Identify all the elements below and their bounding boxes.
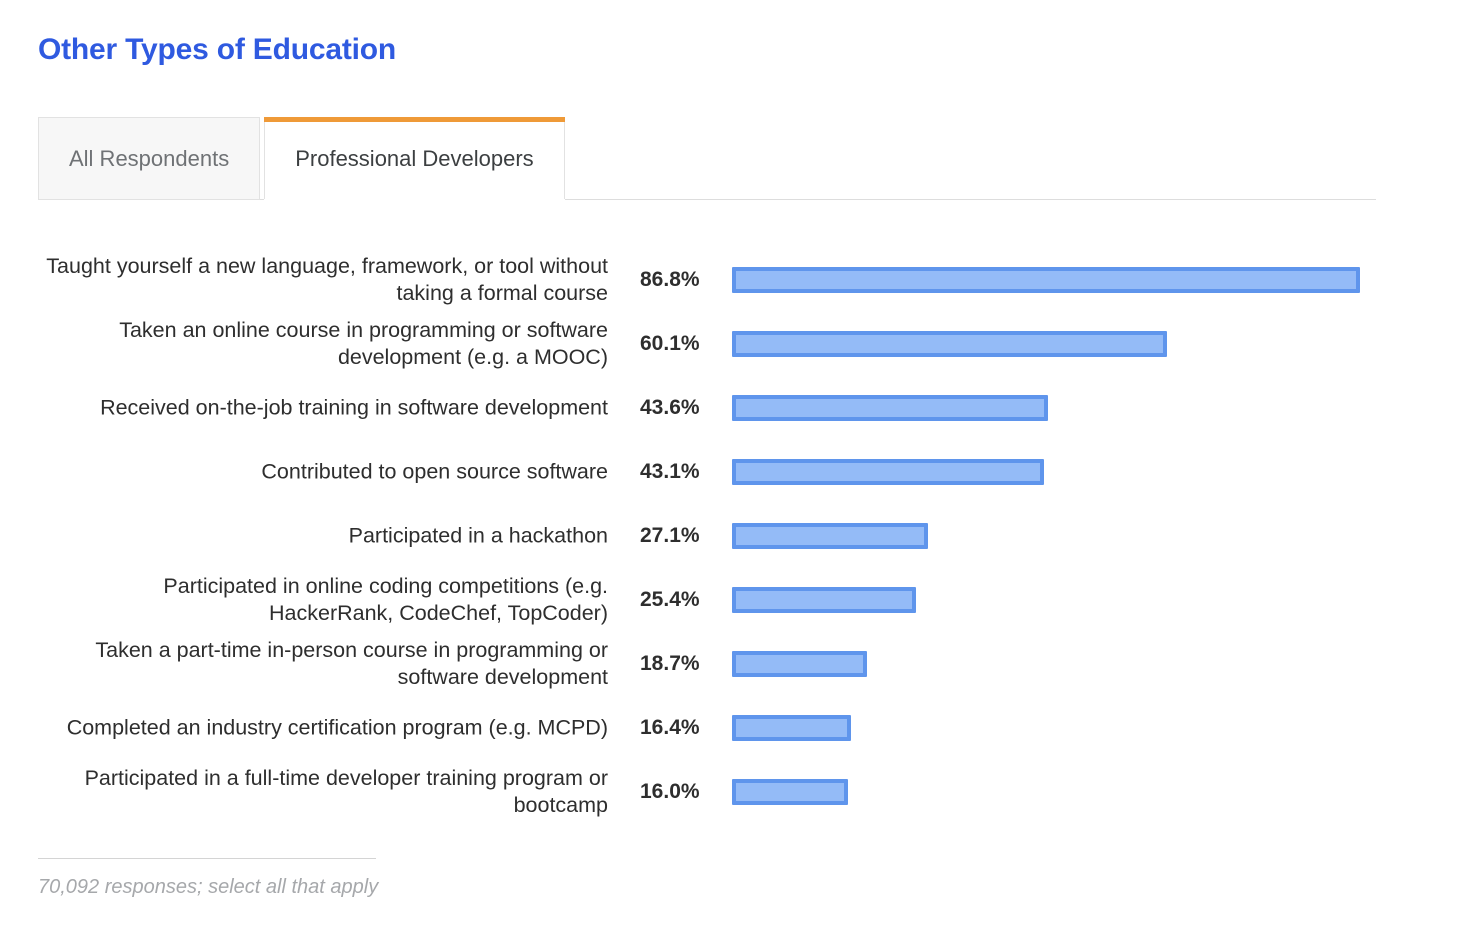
bar-category-label: Participated in a full-time developer tr… [38,765,608,819]
bar-value-label: 25.4% [640,588,716,612]
tab-professional-developers-label: Professional Developers [295,146,533,172]
tab-professional-developers[interactable]: Professional Developers [264,117,564,200]
chart-row: Participated in online coding competitio… [0,568,1484,632]
chart-row: Taken an online course in programming or… [0,312,1484,376]
bar[interactable] [732,523,928,549]
chart-page: Other Types of Education All Respondents… [0,0,1484,950]
footer-divider [38,858,376,859]
chart-footer: 70,092 responses; select all that apply [38,858,738,899]
horizontal-bar-chart: Taught yourself a new language, framewor… [0,248,1484,824]
bar-track [732,267,1484,293]
bar-value-label: 43.1% [640,460,716,484]
bar-category-label: Taken a part-time in-person course in pr… [38,637,608,691]
bar[interactable] [732,779,848,805]
bar-value-label: 43.6% [640,396,716,420]
chart-row: Participated in a full-time developer tr… [0,760,1484,824]
bar[interactable] [732,331,1167,357]
tab-list: All Respondents Professional Developers [38,117,565,200]
chart-row: Completed an industry certification prog… [0,696,1484,760]
bar-value-label: 18.7% [640,652,716,676]
bar[interactable] [732,715,851,741]
bar-track [732,587,1484,613]
tab-bar: All Respondents Professional Developers [38,117,1376,200]
bar-track [732,779,1484,805]
chart-row: Participated in a hackathon27.1% [0,504,1484,568]
tab-all-respondents-label: All Respondents [69,146,229,172]
bar-category-label: Completed an industry certification prog… [38,715,608,742]
bar[interactable] [732,587,916,613]
chart-row: Taken a part-time in-person course in pr… [0,632,1484,696]
bar[interactable] [732,459,1044,485]
bar-value-label: 27.1% [640,524,716,548]
bar-track [732,651,1484,677]
bar-category-label: Contributed to open source software [38,459,608,486]
chart-row: Taught yourself a new language, framewor… [0,248,1484,312]
bar-track [732,331,1484,357]
footer-note: 70,092 responses; select all that apply [38,876,738,899]
chart-row: Received on-the-job training in software… [0,376,1484,440]
bar-track [732,395,1484,421]
page-title: Other Types of Education [38,33,396,67]
bar-track [732,459,1484,485]
bar-track [732,523,1484,549]
bar-value-label: 86.8% [640,268,716,292]
bar-category-label: Participated in online coding competitio… [38,573,608,627]
bar-category-label: Received on-the-job training in software… [38,395,608,422]
bar-value-label: 60.1% [640,332,716,356]
chart-row: Contributed to open source software43.1% [0,440,1484,504]
bar[interactable] [732,395,1048,421]
bar-category-label: Taught yourself a new language, framewor… [38,253,608,307]
tab-all-respondents[interactable]: All Respondents [38,117,260,200]
bar-category-label: Taken an online course in programming or… [38,317,608,371]
bar-track [732,715,1484,741]
bar-category-label: Participated in a hackathon [38,523,608,550]
bar[interactable] [732,651,867,677]
bar-value-label: 16.4% [640,716,716,740]
bar[interactable] [732,267,1360,293]
bar-value-label: 16.0% [640,780,716,804]
